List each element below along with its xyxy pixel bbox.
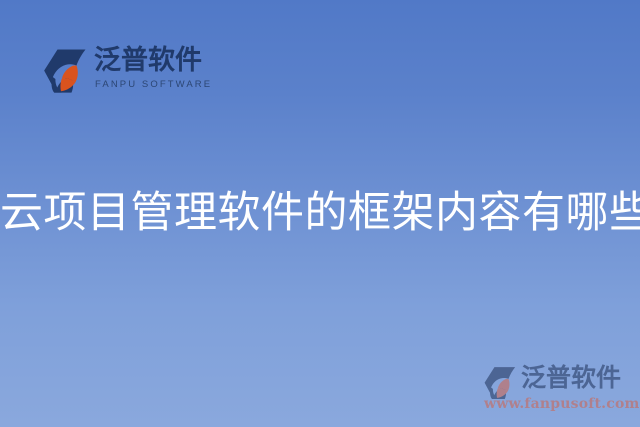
watermark: 泛普软件 www.fanpusoft.com	[482, 362, 634, 418]
banner-image: 泛普软件 FANPU SOFTWARE 云项目管理软件的框架内容有哪些 泛普软件…	[0, 0, 640, 427]
fanpu-logo-icon	[41, 48, 89, 94]
watermark-name-cn: 泛普软件	[521, 364, 621, 392]
brand-name-en: FANPU SOFTWARE	[95, 79, 212, 91]
brand-logo: 泛普软件 FANPU SOFTWARE	[41, 46, 216, 102]
brand-text: 泛普软件 FANPU SOFTWARE	[94, 46, 216, 102]
brand-name-cn: 泛普软件	[94, 46, 202, 76]
headline-title: 云项目管理软件的框架内容有哪些	[0, 187, 640, 239]
watermark-url: www.fanpusoft.com	[484, 396, 640, 413]
fanpu-logo-icon	[482, 366, 518, 400]
